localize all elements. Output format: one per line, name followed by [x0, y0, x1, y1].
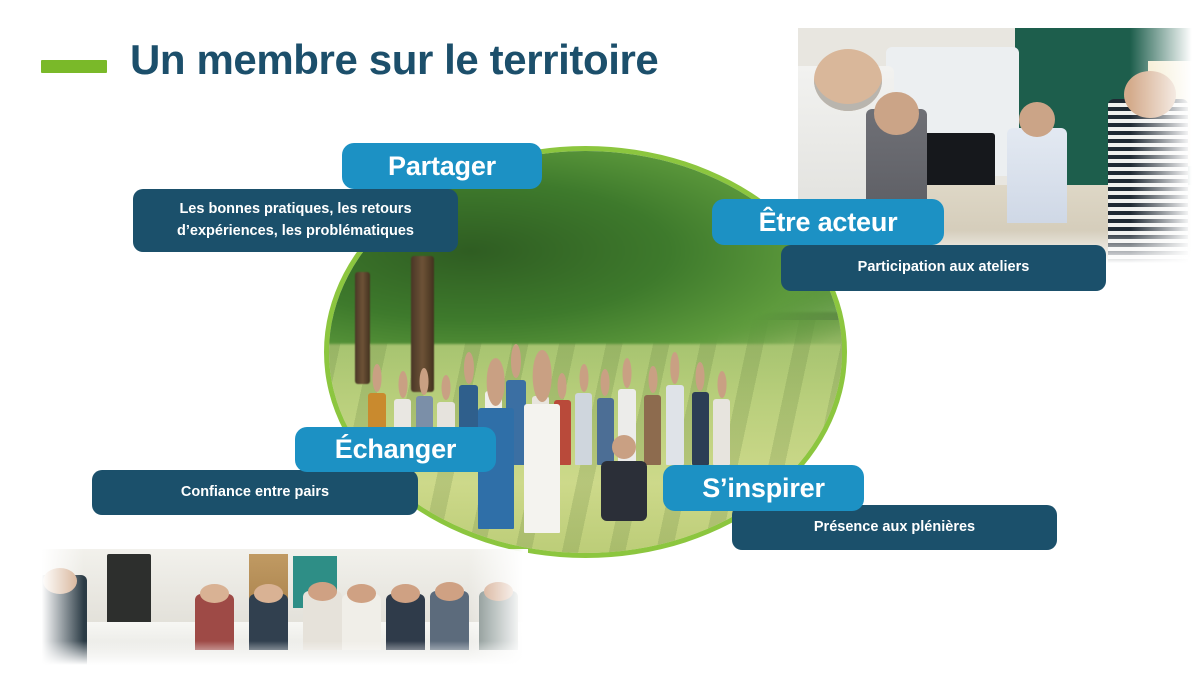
park-chair-with-jacket — [601, 461, 647, 521]
crowd-person — [597, 398, 614, 465]
infobox-inspirer: Présence aux plénières — [732, 505, 1057, 550]
infobox-echanger: Confiance entre pairs — [92, 470, 418, 515]
crowd-person — [666, 385, 684, 464]
crowd-person — [692, 392, 709, 464]
badge-inspirer[interactable]: S’inspirer — [663, 465, 864, 511]
page-title: Un membre sur le territoire — [130, 36, 658, 84]
badge-partager[interactable]: Partager — [342, 143, 542, 189]
crowd-person — [644, 395, 661, 465]
conference-photo-fade-bottom — [38, 641, 528, 667]
badge-echanger[interactable]: Échanger — [295, 427, 496, 472]
infobox-partager: Les bonnes pratiques, les retours d’expé… — [133, 189, 458, 252]
infobox-etre-acteur: Participation aux ateliers — [781, 245, 1106, 291]
office-person-center — [1007, 128, 1067, 223]
conference-person-head — [435, 582, 464, 601]
conference-door — [107, 554, 151, 627]
photo-conference-room — [38, 549, 528, 667]
badge-etre-acteur[interactable]: Être acteur — [712, 199, 944, 245]
conference-person-head — [308, 582, 337, 601]
office-person-left2-head — [874, 92, 918, 135]
slide-canvas: Un membre sur le territoire — [0, 0, 1200, 675]
crowd-person — [575, 393, 592, 464]
title-accent-dash — [41, 60, 107, 73]
crowd-person — [713, 399, 730, 465]
park-foreground-person — [524, 404, 560, 533]
